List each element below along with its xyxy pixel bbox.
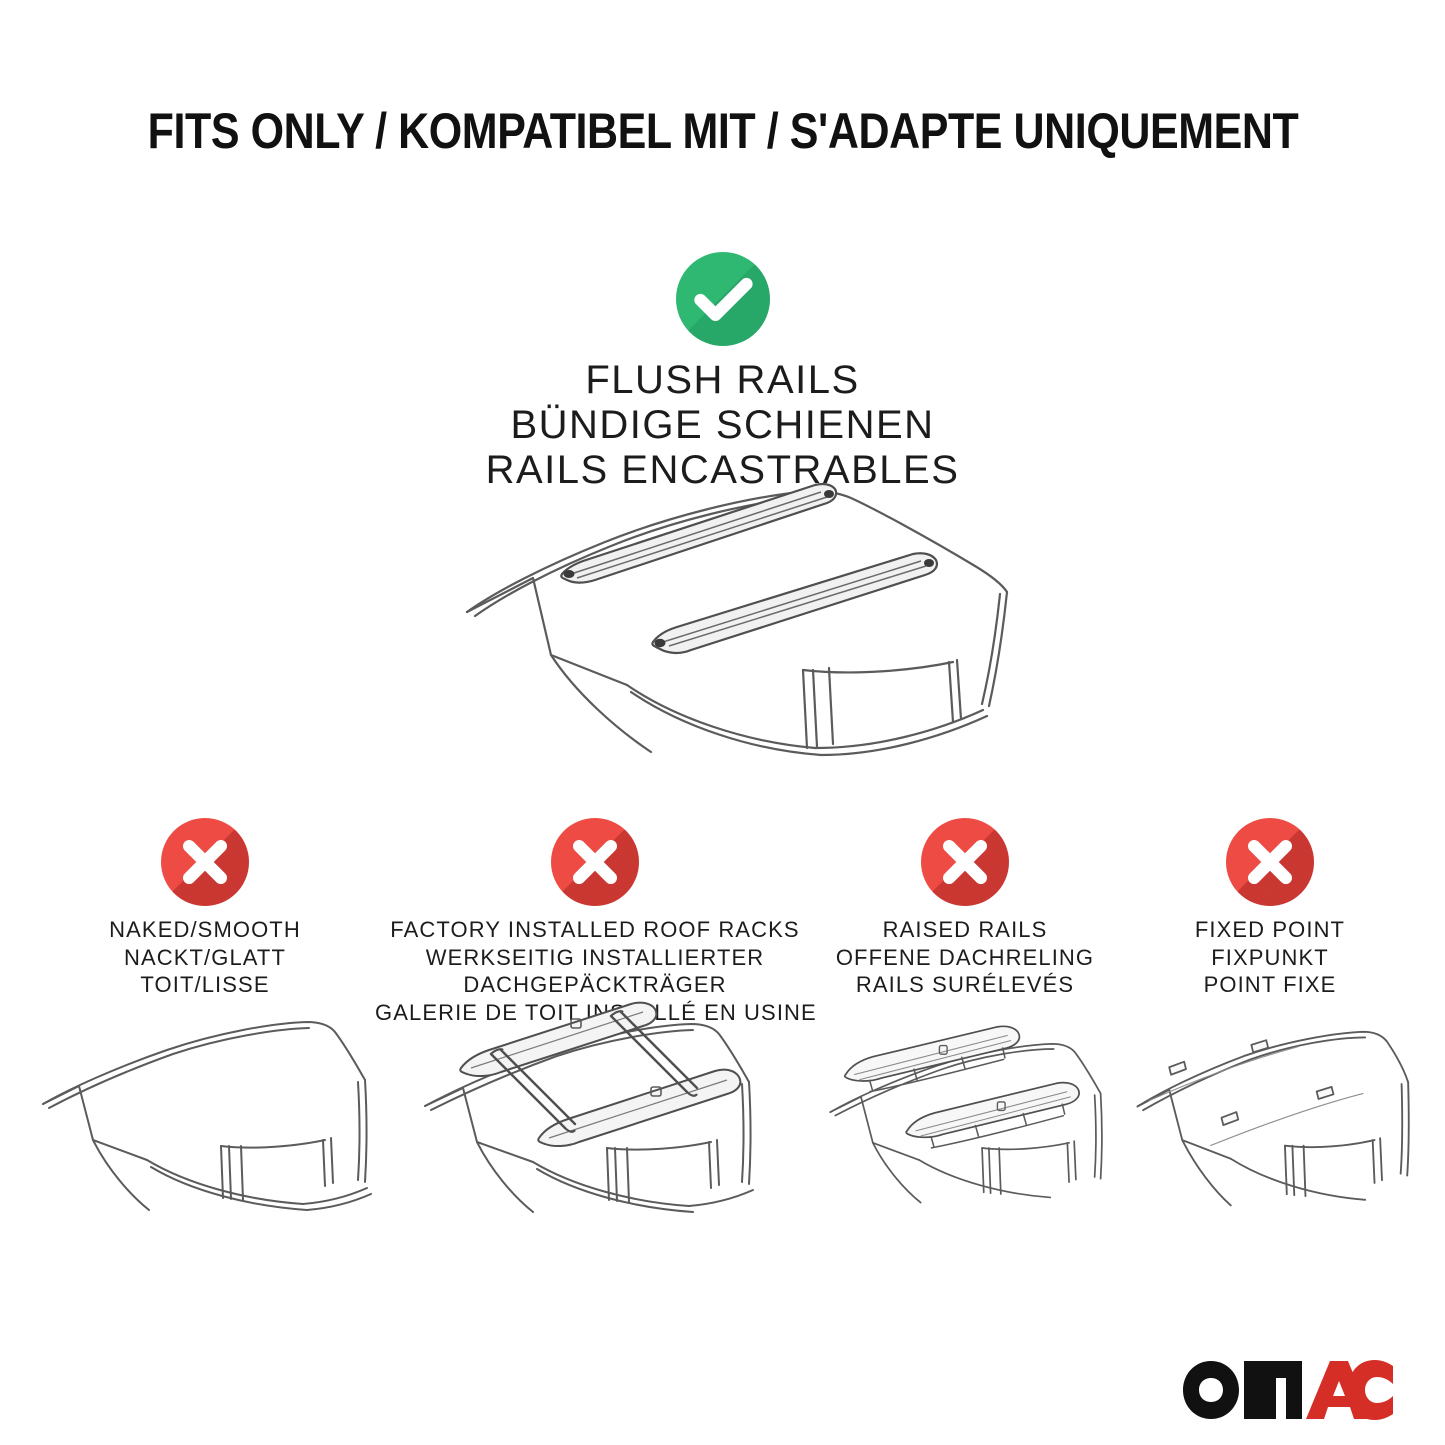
check-circle-icon: [676, 252, 770, 346]
raised-rails-line-art: [820, 1008, 1110, 1218]
x-mark-glyph: [1226, 818, 1314, 906]
naked-roof-line-art: [35, 1008, 375, 1218]
incompatible-item-factory-roof-racks: FACTORY INSTALLED ROOF RACKS WERKSEITIG …: [375, 818, 815, 1027]
page-title: FITS ONLY / KOMPATIBEL MIT / S'ADAPTE UN…: [147, 104, 1298, 159]
compatible-label-en: FLUSH RAILS: [0, 358, 1445, 403]
badge-wrap: [375, 818, 815, 906]
check-mark-glyph: [676, 252, 770, 346]
label-group: RAISED RAILS OFFENE DACHRELING RAILS SUR…: [820, 916, 1110, 999]
label-de: FIXPUNKT: [1130, 944, 1410, 972]
fixed-point-covers-near: [1221, 1087, 1333, 1125]
label-fr: TOIT/LISSE: [35, 971, 375, 999]
label-en: NAKED/SMOOTH: [35, 916, 375, 944]
compatible-section: FLUSH RAILS BÜNDIGE SCHIENEN RAILS ENCAS…: [0, 252, 1445, 492]
label-de-1: WERKSEITIG INSTALLIERTER: [375, 944, 815, 972]
compatible-label-de: BÜNDIGE SCHIENEN: [0, 403, 1445, 448]
badge-wrap: [35, 818, 375, 906]
label-de-2: DACHGEPÄCKTRÄGER: [375, 971, 815, 999]
x-mark-glyph: [551, 818, 639, 906]
car-roof-flush-rails-illustration: [455, 470, 1015, 770]
badge-wrap: [1130, 818, 1410, 906]
x-circle-icon: [921, 818, 1009, 906]
label-en: FACTORY INSTALLED ROOF RACKS: [375, 916, 815, 944]
omac-logo-letter-m: [1244, 1361, 1302, 1419]
incompatible-item-naked-smooth: NAKED/SMOOTH NACKT/GLATT TOIT/LISSE: [35, 818, 375, 999]
car-roof-naked-smooth-illustration: [35, 1008, 375, 1218]
car-roof-raised-rails-illustration: [820, 1008, 1110, 1218]
x-circle-icon: [551, 818, 639, 906]
x-mark-glyph: [921, 818, 1009, 906]
car-roof-fixed-point-illustration: [1130, 1008, 1410, 1218]
label-group: FIXED POINT FIXPUNKT POINT FIXE: [1130, 916, 1410, 999]
page-title-bar: FITS ONLY / KOMPATIBEL MIT / S'ADAPTE UN…: [0, 104, 1445, 159]
incompatible-item-raised-rails: RAISED RAILS OFFENE DACHRELING RAILS SUR…: [820, 818, 1110, 999]
badge-wrap: [820, 818, 1110, 906]
x-circle-icon: [1226, 818, 1314, 906]
label-fr: POINT FIXE: [1130, 971, 1410, 999]
incompatible-item-fixed-point: FIXED POINT FIXPUNKT POINT FIXE: [1130, 818, 1410, 999]
incompatible-section: NAKED/SMOOTH NACKT/GLATT TOIT/LISSE: [0, 818, 1445, 1248]
omac-logo-text: OMAC: [1393, 1355, 1394, 1356]
label-group: NAKED/SMOOTH NACKT/GLATT TOIT/LISSE: [35, 916, 375, 999]
compatible-badge-wrap: [0, 252, 1445, 346]
omac-logo: OMAC: [1183, 1355, 1393, 1425]
flush-rail-far-endcap: [564, 570, 575, 578]
label-de: OFFENE DACHRELING: [820, 944, 1110, 972]
x-circle-icon: [161, 818, 249, 906]
label-fr: RAILS SURÉLEVÉS: [820, 971, 1110, 999]
x-mark-glyph: [161, 818, 249, 906]
car-roof-factory-roof-racks-illustration: [375, 996, 815, 1218]
flush-rail-far: [561, 484, 836, 583]
omac-logo-mark: [1183, 1355, 1393, 1425]
fixed-point-line-art: [1130, 1008, 1410, 1218]
raised-rail-near: [906, 1083, 1079, 1138]
label-en: FIXED POINT: [1130, 916, 1410, 944]
factory-roof-racks-line-art: [375, 996, 815, 1218]
omac-logo-letter-o: [1183, 1361, 1239, 1419]
flush-rails-line-art: [455, 470, 1015, 770]
label-en: RAISED RAILS: [820, 916, 1110, 944]
label-de: NACKT/GLATT: [35, 944, 375, 972]
